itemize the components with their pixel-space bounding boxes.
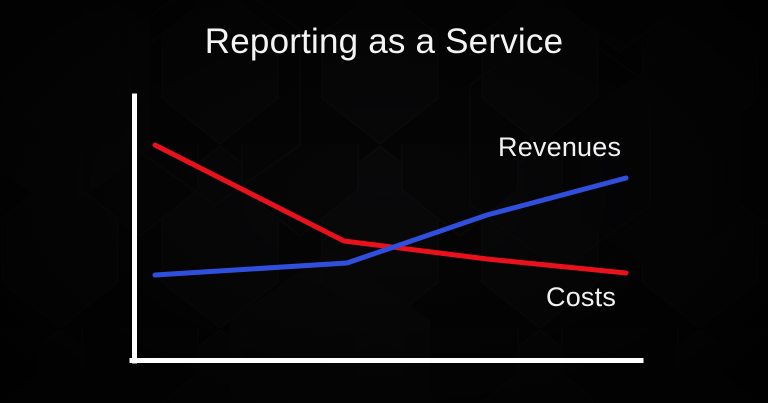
page-title: Reporting as a Service [0,22,768,62]
slide-canvas: Reporting as a Service Revenues Costs [0,0,768,403]
series-label-costs: Costs [546,282,616,313]
series-line-costs [155,145,626,273]
series-label-revenues: Revenues [498,132,621,163]
series-line-revenues [155,178,626,275]
